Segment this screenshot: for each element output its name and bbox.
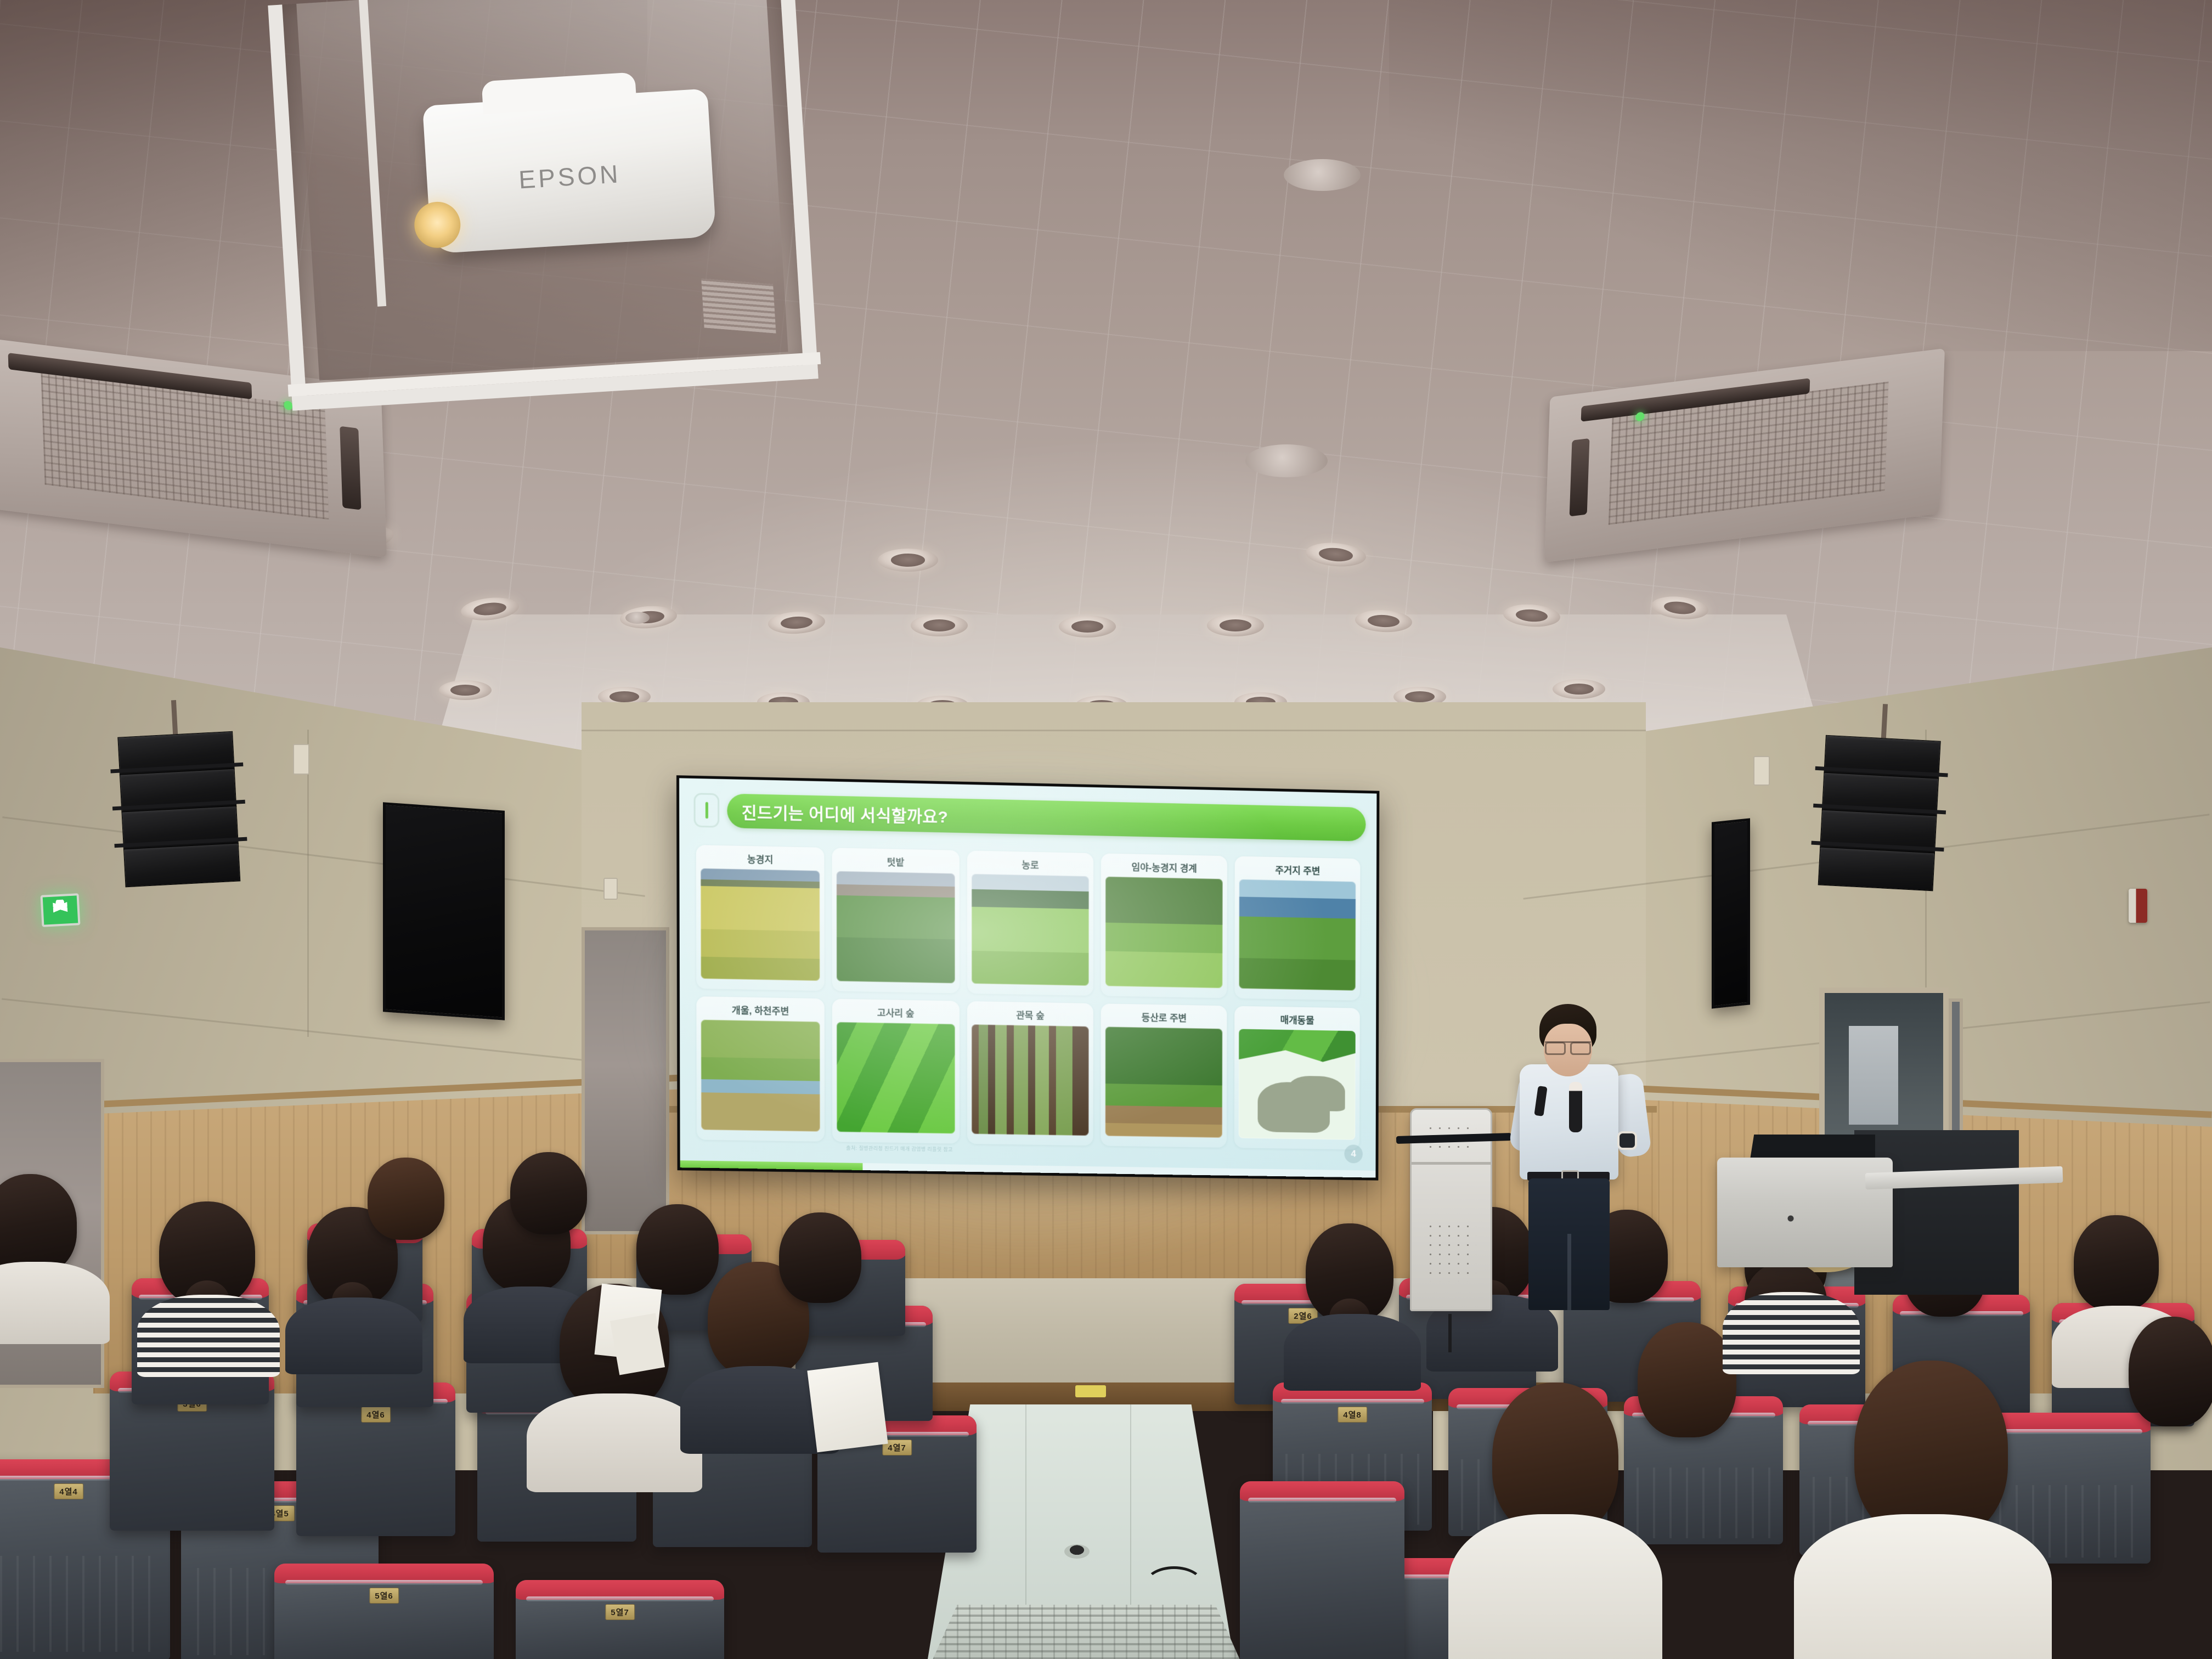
fire-alarm-strobe [2129, 889, 2147, 923]
habitat-photo-stream [701, 1020, 820, 1132]
slide-title-pill: 진드기는 어디에 서식할까요? [727, 793, 1365, 841]
habitat-card: 등산로 주변 [1101, 1003, 1227, 1148]
habitat-label: 관목 숲 [1016, 1007, 1045, 1026]
av-cart-holes [1756, 1215, 1854, 1222]
wall-sensor-plate-right [1753, 756, 1770, 786]
marker-bar-icon [705, 802, 708, 819]
slide-title: 진드기는 어디에 서식할까요? [742, 799, 949, 827]
seat-highlight [285, 1580, 483, 1585]
handout-paper[interactable] [610, 1313, 665, 1375]
projection-screen: 진드기는 어디에 서식할까요? 농경지 텃밭 농로 임야-농경지 경계 [676, 775, 1379, 1180]
line-array-speaker-right [1817, 735, 1940, 906]
floor-power-outlet[interactable] [1064, 1544, 1090, 1559]
seat-number-plate: 4열6 [361, 1407, 391, 1423]
habitat-label: 고사리 숲 [877, 1004, 915, 1023]
ceiling-speaker-grille [1284, 159, 1361, 191]
slide-header: 진드기는 어디에 서식할까요? [693, 793, 1365, 842]
mic-stand-post [1448, 1314, 1452, 1352]
presenter-wristwatch [1620, 1133, 1635, 1148]
habitat-photo-hiking-trail [1105, 1026, 1223, 1138]
wall-plate-left [603, 878, 618, 900]
habitat-card: 주거지 주변 [1234, 856, 1360, 1001]
cage-vent [701, 279, 776, 334]
ceiling-downlight [911, 614, 968, 636]
habitat-photo-residential [1239, 879, 1356, 991]
lectern-perforations-body [1426, 1222, 1476, 1282]
speaker-module [123, 843, 240, 887]
ceiling-downlight [1553, 679, 1605, 699]
lectern-shelf-line [1412, 1162, 1491, 1165]
seat-highlight [526, 1596, 714, 1601]
habitat-photo-kitchen-garden [836, 871, 955, 984]
audience-shoulders [1448, 1514, 1662, 1659]
audience-shoulders [137, 1295, 280, 1377]
slide-progress-fill [680, 1160, 863, 1170]
seat-number-plate: 4열8 [1338, 1407, 1367, 1423]
habitat-label: 등산로 주변 [1142, 1009, 1187, 1028]
audience-shoulders [1794, 1514, 2052, 1659]
seat[interactable]: 5열6 [274, 1564, 494, 1659]
wall-monitor-right [1712, 818, 1750, 1008]
seat-number-plate: 4열4 [54, 1483, 83, 1499]
projector-mount-cage: EPSON [268, 0, 818, 411]
presenter [1509, 1004, 1651, 1333]
floor-grate [933, 1605, 1240, 1659]
handout-paper[interactable] [807, 1362, 888, 1453]
corridor-wall-panel [1849, 1026, 1898, 1125]
wall-panel-seam [307, 730, 309, 1037]
slide-footnote: 출처: 질병관리청 진드기 매개 감염병 리플릿 참고 [846, 1144, 953, 1153]
habitat-label: 개울, 하천주변 [732, 1001, 789, 1021]
habitat-card: 농로 [967, 850, 1093, 996]
seat-number-plate: 5열6 [369, 1588, 399, 1604]
audience-head [636, 1204, 719, 1295]
habitat-illustration-vector-animals [1239, 1029, 1356, 1140]
audience-head [779, 1212, 861, 1303]
seat-highlight [1281, 1399, 1424, 1404]
seat-number-plate: 5열7 [605, 1604, 635, 1620]
slide-marker-badge [693, 793, 719, 828]
epson-projector: EPSON [422, 88, 716, 253]
seat-ribs [1637, 1468, 1770, 1539]
slide-surface: 진드기는 어디에 서식할까요? 농경지 텃밭 농로 임야-농경지 경계 [679, 778, 1376, 1177]
habitat-photo-forest-farm-border [1105, 877, 1223, 989]
habitat-card: 농경지 [696, 845, 825, 991]
ceiling-downlight [1207, 614, 1264, 636]
emergency-exit-sign [41, 893, 81, 927]
presenter-trousers [1528, 1178, 1610, 1310]
ceiling-downlight [878, 549, 938, 572]
ac-air-slot [340, 426, 361, 510]
slide-page-badge: 4 [1344, 1144, 1363, 1163]
audience-shoulders [285, 1297, 422, 1374]
ceiling-downlight [1059, 616, 1116, 637]
line-array-speaker-left [117, 731, 241, 902]
lecture-hall-photo: EPSON [0, 0, 2212, 1659]
seat-highlight [1248, 1498, 1396, 1503]
ac-grille [41, 372, 329, 520]
habitat-card: 고사리 숲 [832, 999, 960, 1144]
habitat-photo-shrub-forest [972, 1024, 1090, 1136]
audience-head [159, 1201, 255, 1306]
habitat-card: 개울, 하천주변 [696, 996, 824, 1142]
habitat-label: 농로 [1022, 856, 1039, 875]
audience-head [2074, 1215, 2159, 1311]
presenter-microphone[interactable] [1569, 1082, 1582, 1132]
audience-head [368, 1158, 444, 1240]
seat[interactable]: 5열7 [516, 1580, 724, 1659]
presenter-glasses [1545, 1041, 1591, 1050]
audience-head [1638, 1322, 1736, 1437]
habitat-card: 매개동물 [1234, 1006, 1360, 1150]
habitat-card: 임야-농경지 경계 [1101, 853, 1227, 998]
wall-monitor-left [383, 802, 505, 1020]
audience-head [2129, 1317, 2212, 1426]
floor-cable [1144, 1566, 1204, 1605]
seat[interactable] [1240, 1481, 1404, 1659]
seat-ribs [0, 1556, 154, 1652]
wall-panel-seam [582, 730, 1646, 731]
habitat-photo-fern-forest [837, 1022, 955, 1134]
ceiling-shadow-right [1389, 0, 2212, 351]
audience-head [1492, 1383, 1618, 1536]
projector-brand-label: EPSON [426, 153, 713, 200]
habitat-card: 텃밭 [832, 848, 959, 993]
habitat-label: 농경지 [747, 850, 774, 870]
door-left[interactable] [582, 927, 669, 1234]
habitat-label: 임야-농경지 경계 [1132, 859, 1197, 878]
ceiling-downlight [439, 680, 492, 700]
audience-shoulders [1284, 1314, 1421, 1391]
audience-shoulders [1723, 1292, 1860, 1374]
habitat-photo-farmland [701, 868, 820, 981]
wall-sensor-plate-left [293, 744, 309, 775]
speaker-module [1818, 847, 1935, 891]
habitat-label: 텃밭 [887, 853, 904, 872]
ceiling-sprinkler [625, 612, 650, 624]
audience-shoulders [0, 1262, 110, 1344]
habitat-photo-farm-road [971, 874, 1089, 986]
running-person-icon [53, 899, 68, 921]
habitat-card: 관목 숲 [967, 1001, 1094, 1145]
seat-highlight [1994, 1429, 2142, 1434]
audience-shoulders [527, 1393, 702, 1492]
ceiling-speaker-grille [1245, 444, 1328, 477]
habitat-label: 주거지 주변 [1275, 861, 1320, 881]
ac-air-slot [1570, 438, 1590, 517]
habitat-label: 매개동물 [1280, 1011, 1314, 1030]
habitat-grid: 농경지 텃밭 농로 임야-농경지 경계 주거지 주변 [696, 845, 1361, 1150]
stage-edge-marker-tape [1075, 1385, 1106, 1397]
audience-head [1306, 1223, 1393, 1322]
audience-head [510, 1152, 587, 1234]
